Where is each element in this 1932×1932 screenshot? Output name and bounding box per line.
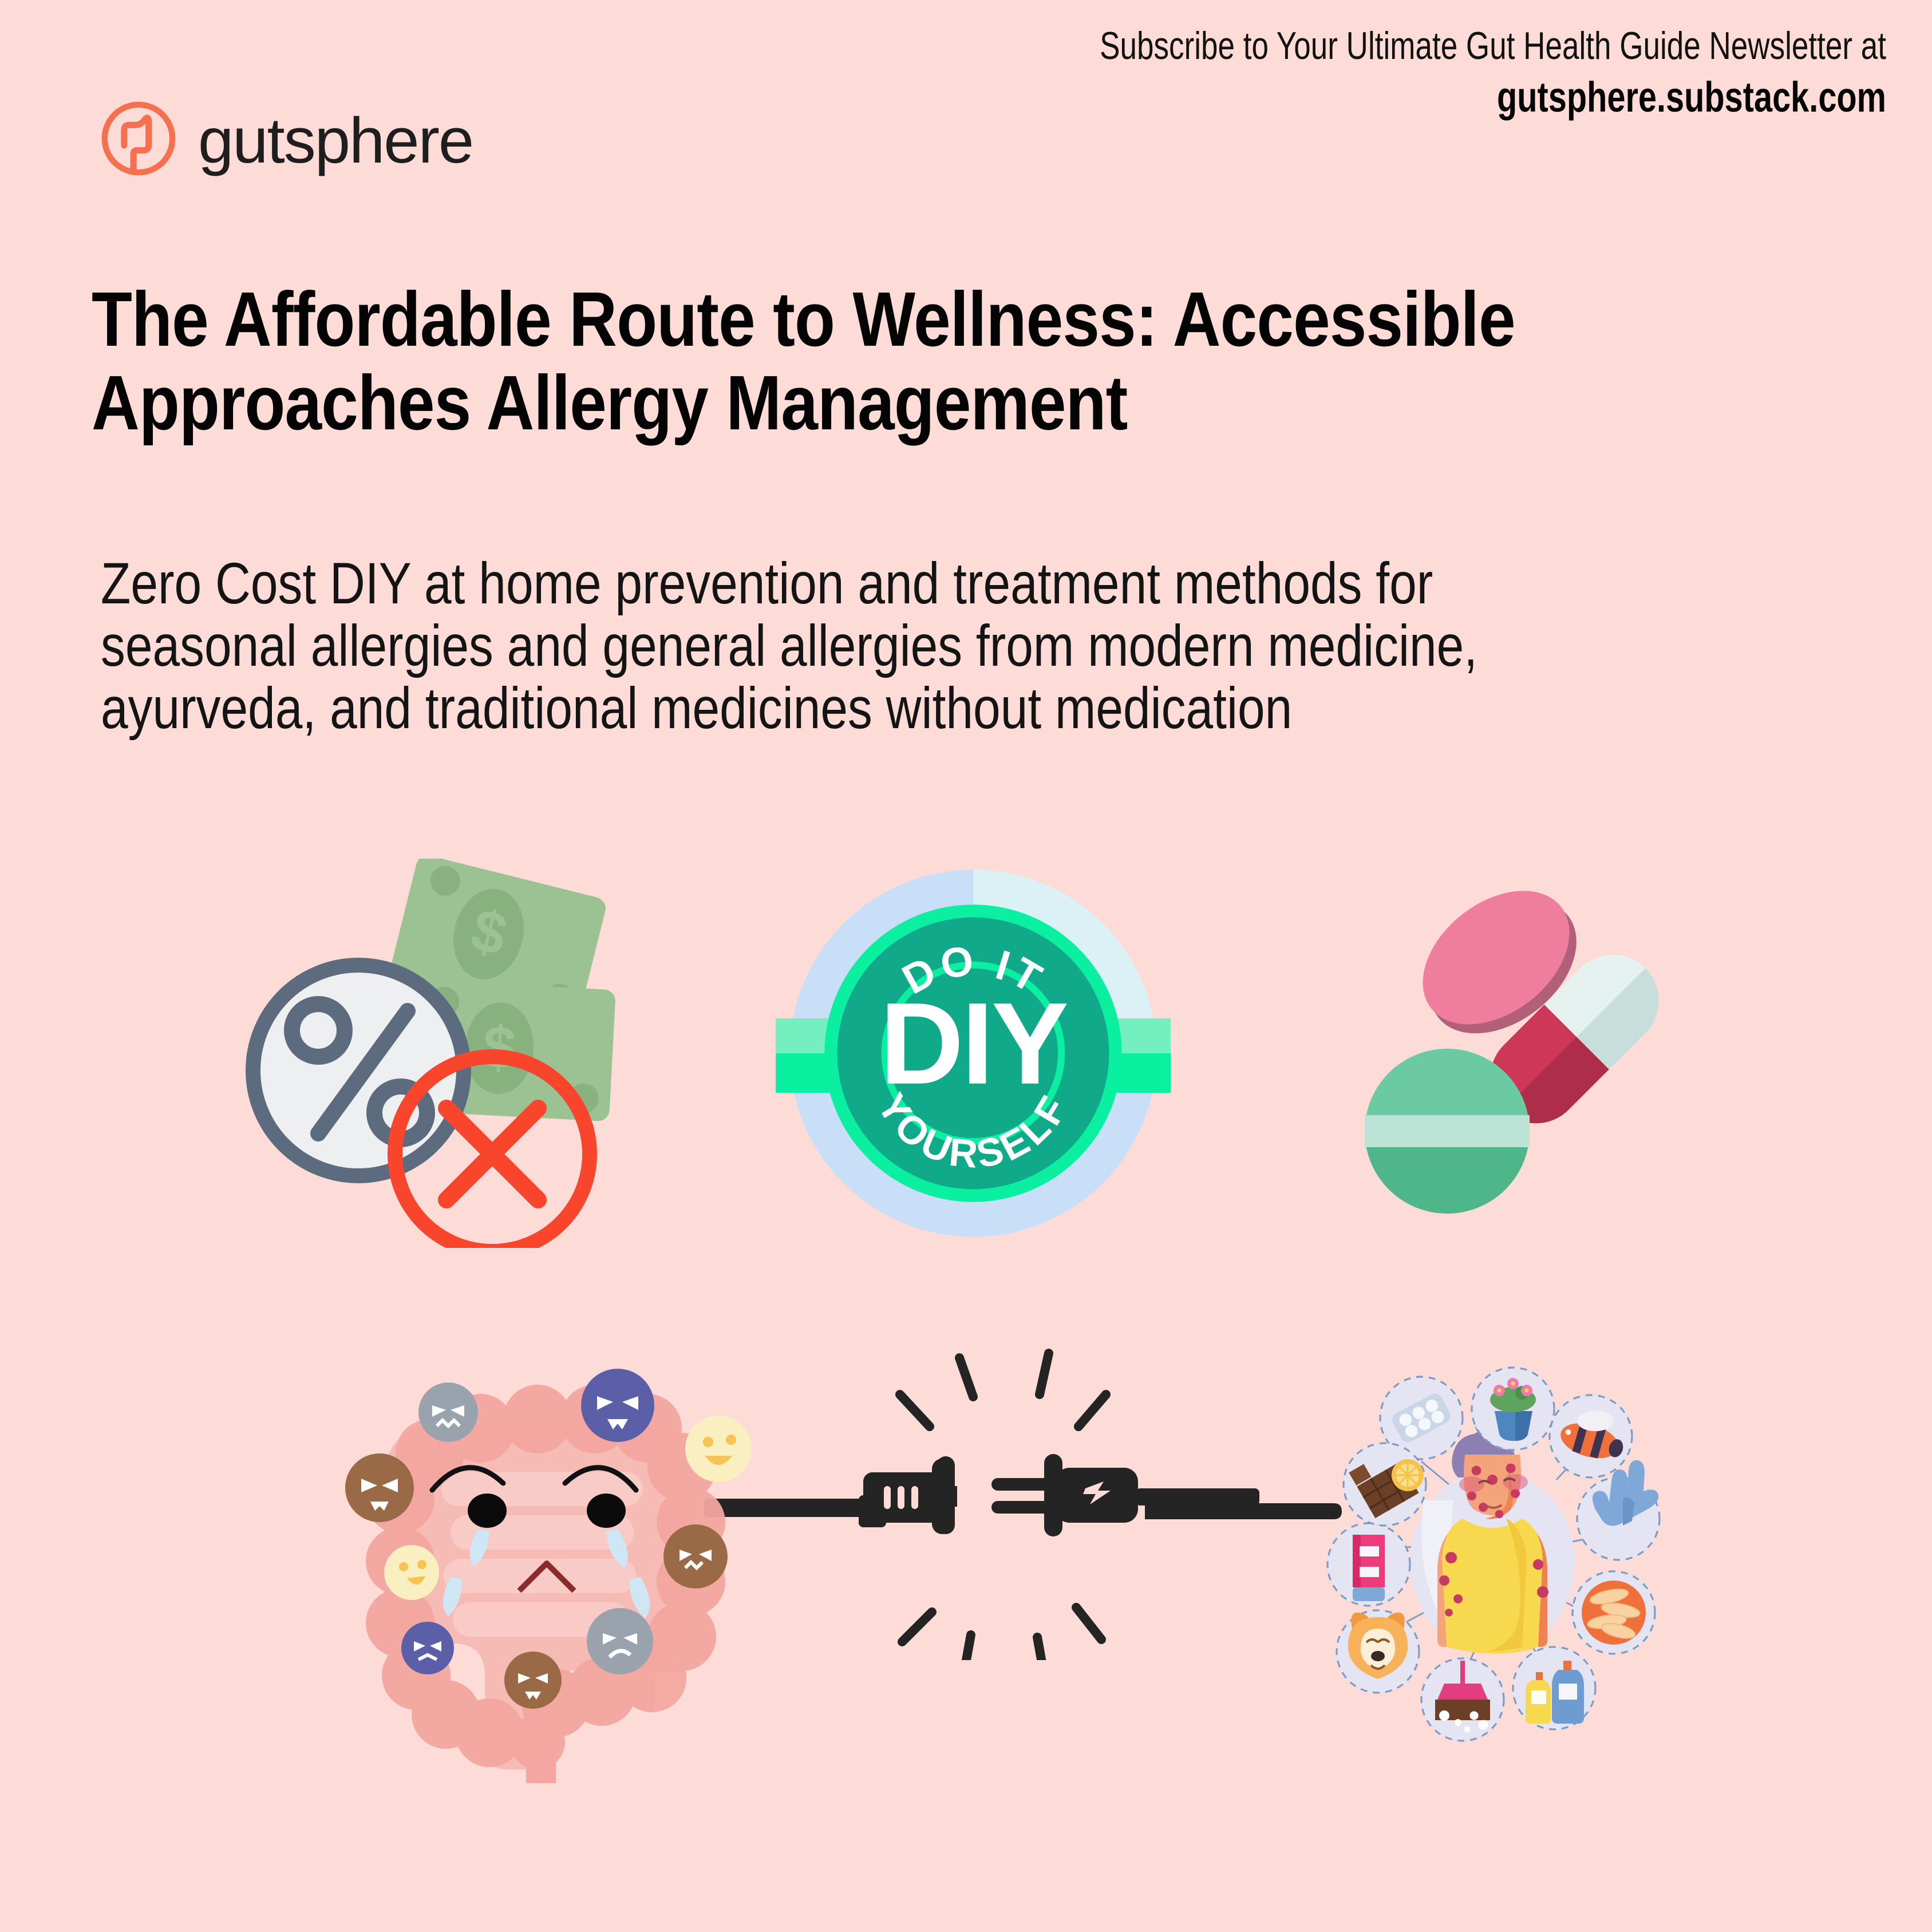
plug-socket xyxy=(859,1456,957,1534)
page-subtitle: Zero Cost DIY at home prevention and tre… xyxy=(101,552,1847,740)
newsletter-callout: Subscribe to Your Ultimate Gut Health Gu… xyxy=(570,23,1886,123)
allergy-triggers-collage-icon xyxy=(1302,1365,1686,1749)
newsletter-url[interactable]: gutsphere.substack.com xyxy=(859,72,1886,123)
bubble-potted-flowers xyxy=(1472,1368,1554,1450)
green-tablet-icon xyxy=(1365,1049,1530,1214)
page-subtitle-line-1: Zero Cost DIY at home prevention and tre… xyxy=(101,552,1567,615)
bubble-dust-broom xyxy=(1421,1658,1504,1741)
bubble-peanut-allergy xyxy=(1573,1571,1655,1654)
newsletter-prompt: Subscribe to Your Ultimate Gut Health Gu… xyxy=(859,23,1886,69)
badge-center-label: DIY xyxy=(880,979,1068,1109)
unhappy-gut-microbiome-icon xyxy=(318,1348,753,1783)
bubble-cream-tube xyxy=(1327,1523,1410,1606)
brand-lockup[interactable]: gutsphere xyxy=(96,96,473,181)
diy-badge-icon[interactable]: DO IT YOURSELF DIY xyxy=(776,856,1171,1251)
page-subtitle-line-3: ayurveda, and traditional medicines with… xyxy=(101,677,1567,740)
page-title-line-1: The Affordable Route to Wellness: Access… xyxy=(92,278,1549,361)
page-title-line-2: Approaches Allergy Management xyxy=(92,361,1549,445)
no-cost-money-icon: $ $ xyxy=(229,859,618,1248)
pills-medication-icon xyxy=(1328,870,1694,1236)
page-subtitle-line-2: seasonal allergies and general allergies… xyxy=(101,615,1567,677)
bubble-pet-dander xyxy=(1337,1610,1419,1693)
gut-circle-logo-icon xyxy=(96,96,181,181)
svg-text:$: $ xyxy=(481,1014,517,1082)
brand-wordmark: gutsphere xyxy=(198,109,473,173)
page-header: gutsphere Subscribe to Your Ultimate Gut… xyxy=(0,0,1932,218)
bubble-cleaning-chemicals xyxy=(1513,1647,1595,1729)
bubble-bee-sting xyxy=(1550,1395,1633,1477)
page-title: The Affordable Route to Wellness: Access… xyxy=(92,278,1786,445)
bubble-food-triggers xyxy=(1344,1443,1426,1526)
